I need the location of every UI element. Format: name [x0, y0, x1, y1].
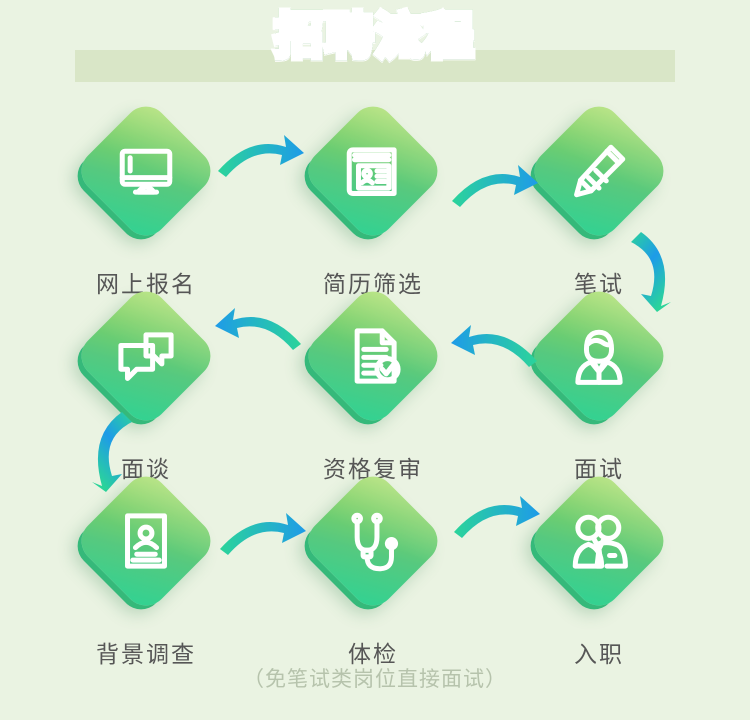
step-tile: [525, 282, 672, 429]
document-check-icon: [321, 304, 425, 408]
flow-step-medical-exam[interactable]: 体检: [273, 475, 473, 669]
flow-step-online-application[interactable]: 网上报名: [46, 105, 246, 299]
flow-step-written-test[interactable]: 笔试: [499, 105, 699, 299]
step-tile: [299, 282, 446, 429]
step-tile: [72, 97, 219, 244]
flow-step-resume-screening[interactable]: 简历筛选: [273, 105, 473, 299]
monitor-icon: [94, 119, 198, 223]
page-title-text: 招聘流程: [275, 8, 475, 66]
chat-bubbles-icon: [94, 304, 198, 408]
flow-row-2: 面谈 资格复审: [0, 290, 750, 475]
page-title: 招聘流程: [0, 8, 750, 66]
flow-step-onboarding[interactable]: 入职: [499, 475, 699, 669]
step-tile: [299, 97, 446, 244]
flow-row-1: 网上报名 简历筛选: [0, 105, 750, 290]
team-icon: [547, 489, 651, 593]
flow-step-interview-talk[interactable]: 面谈: [46, 290, 246, 484]
step-tile: [72, 467, 219, 614]
flow-step-interview[interactable]: 面试: [499, 290, 699, 484]
stethoscope-icon: [321, 489, 425, 593]
flow-row-3: 背景调查 体检: [0, 475, 750, 660]
person-suit-icon: [547, 304, 651, 408]
pencil-icon: [547, 119, 651, 223]
step-tile: [299, 467, 446, 614]
recruitment-flow: 网上报名 简历筛选: [0, 105, 750, 660]
step-tile: [525, 467, 672, 614]
resume-book-icon: [321, 119, 425, 223]
step-tile: [525, 97, 672, 244]
id-card-icon: [94, 489, 198, 593]
step-tile: [72, 282, 219, 429]
footnote: （免笔试类岗位直接面试）: [0, 663, 750, 693]
flow-step-qualification-review[interactable]: 资格复审: [273, 290, 473, 484]
flow-step-background-check[interactable]: 背景调查: [46, 475, 246, 669]
